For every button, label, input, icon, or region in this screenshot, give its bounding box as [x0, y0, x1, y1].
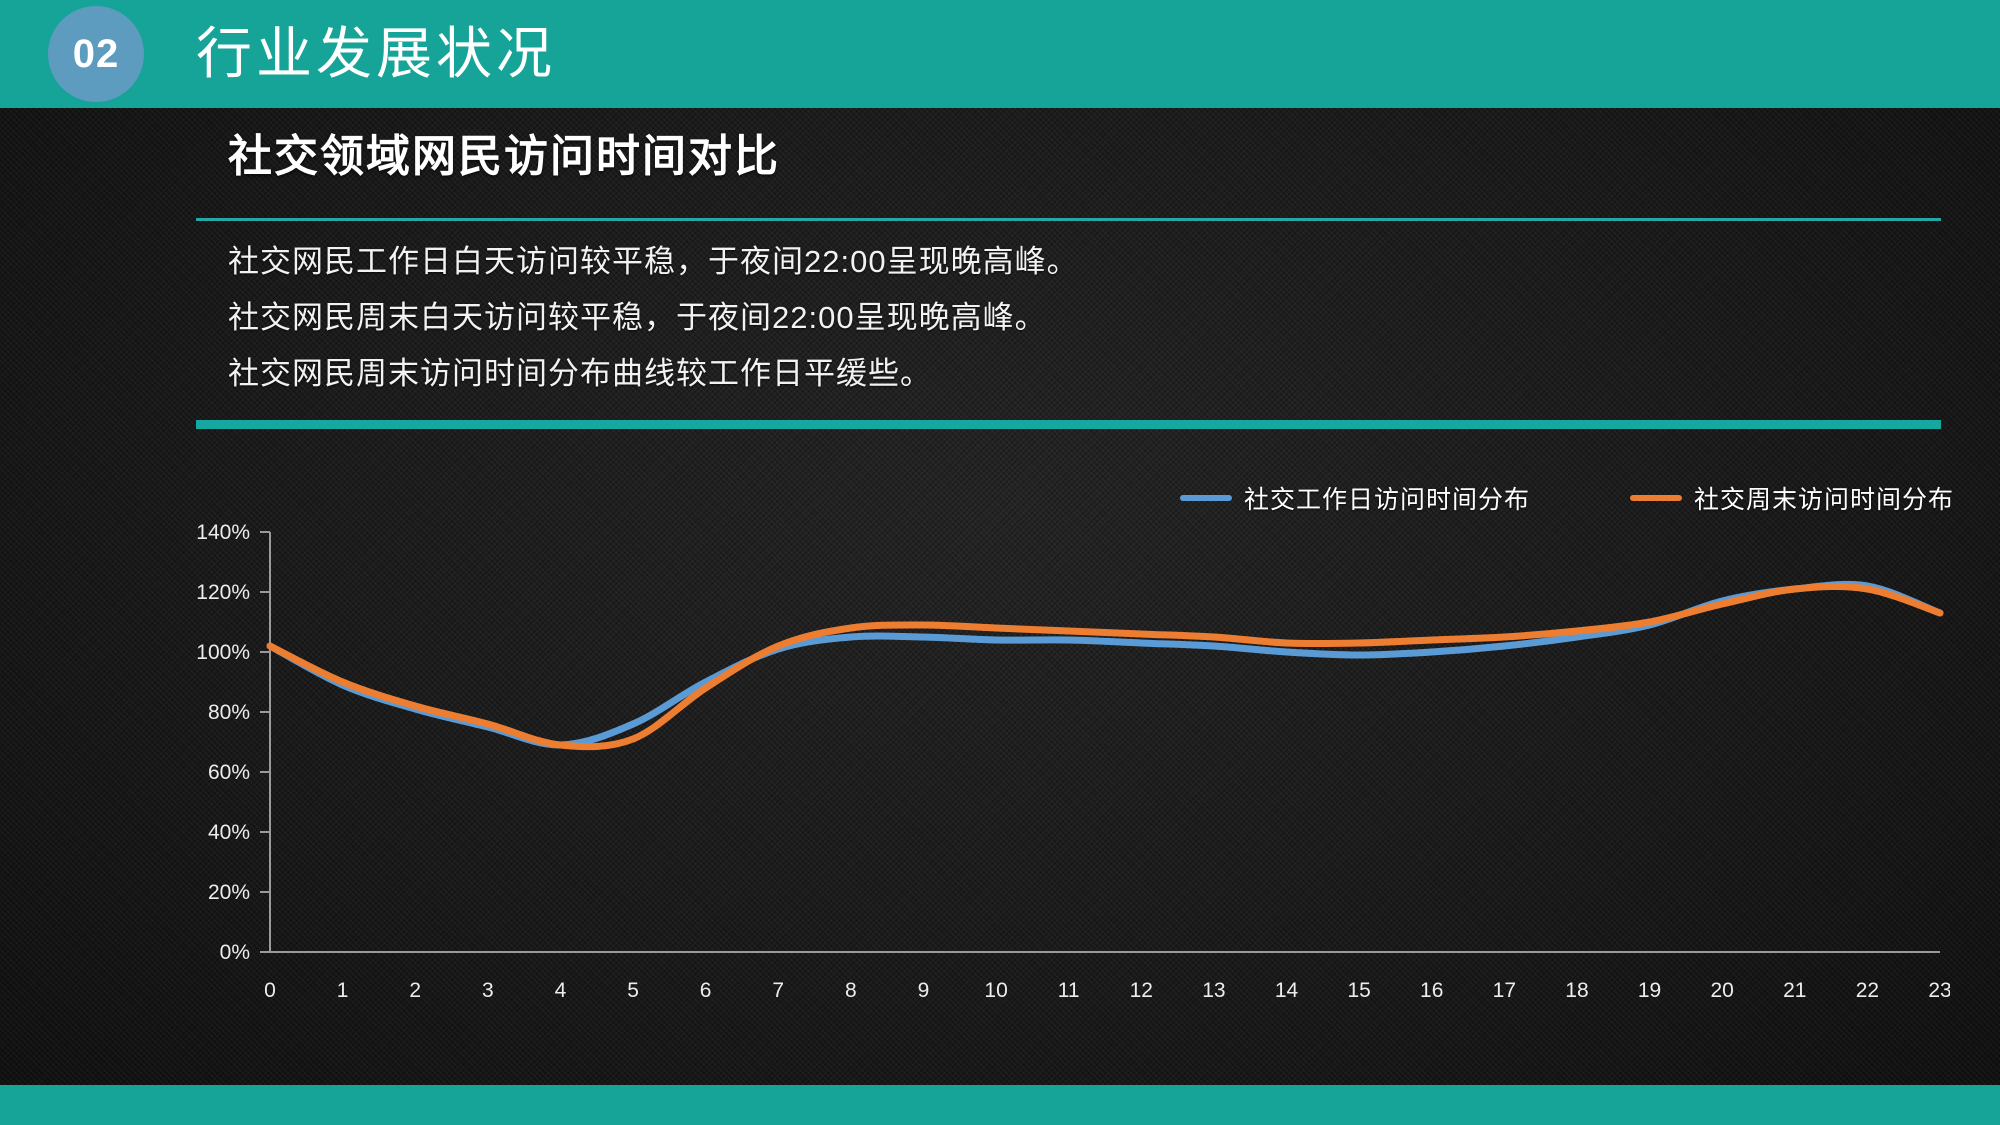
svg-text:7: 7 [772, 979, 784, 1002]
svg-text:20%: 20% [208, 881, 250, 904]
bullet-item: 社交网民周末白天访问较平稳，于夜间22:00呈现晚高峰。 [228, 299, 1928, 337]
svg-text:20: 20 [1710, 979, 1733, 1002]
svg-text:23: 23 [1928, 979, 1950, 1002]
page-title: 社交领域网民访问时间对比 [228, 120, 780, 184]
svg-text:16: 16 [1420, 979, 1443, 1002]
section-number-badge: 02 [48, 6, 144, 102]
svg-text:18: 18 [1565, 979, 1588, 1002]
svg-text:8: 8 [845, 979, 857, 1002]
svg-text:1: 1 [337, 979, 349, 1002]
svg-text:100%: 100% [196, 641, 250, 664]
bullet-item: 社交网民工作日白天访问较平稳，于夜间22:00呈现晚高峰。 [228, 243, 1928, 281]
legend-item-weekday: 社交工作日访问时间分布 [1180, 480, 1530, 516]
legend-item-weekend: 社交周末访问时间分布 [1630, 480, 1954, 516]
svg-text:6: 6 [700, 979, 712, 1002]
svg-text:22: 22 [1856, 979, 1879, 1002]
svg-text:0: 0 [264, 979, 276, 1002]
bullet-item: 社交网民周末访问时间分布曲线较工作日平缓些。 [228, 355, 1928, 393]
svg-text:60%: 60% [208, 761, 250, 784]
chart-legend: 社交工作日访问时间分布 社交周末访问时间分布 [1180, 480, 1954, 516]
divider-thick [196, 420, 1941, 429]
svg-text:11: 11 [1058, 979, 1080, 1002]
legend-label: 社交周末访问时间分布 [1694, 480, 1954, 516]
svg-text:3: 3 [482, 979, 494, 1002]
svg-text:10: 10 [984, 979, 1007, 1002]
svg-text:120%: 120% [196, 581, 250, 604]
svg-text:40%: 40% [208, 821, 250, 844]
svg-text:4: 4 [555, 979, 567, 1002]
svg-text:2: 2 [409, 979, 421, 1002]
chart: 社交工作日访问时间分布 社交周末访问时间分布 0%20%40%60%80%100… [150, 480, 1950, 1060]
slide: 02 行业发展状况 社交领域网民访问时间对比 社交网民工作日白天访问较平稳，于夜… [0, 0, 2000, 1125]
svg-text:19: 19 [1638, 979, 1661, 1002]
section-number-text: 02 [73, 34, 120, 74]
footer-band [0, 1085, 2000, 1125]
line-chart-svg: 0%20%40%60%80%100%120%140%01234567891011… [150, 520, 1950, 1060]
legend-swatch-icon [1630, 495, 1682, 501]
legend-label: 社交工作日访问时间分布 [1244, 480, 1530, 516]
series-line [270, 584, 1940, 745]
chart-plot-area: 0%20%40%60%80%100%120%140%01234567891011… [150, 520, 1950, 1060]
svg-text:15: 15 [1347, 979, 1370, 1002]
legend-swatch-icon [1180, 495, 1232, 501]
svg-text:13: 13 [1202, 979, 1225, 1002]
svg-text:21: 21 [1783, 979, 1806, 1002]
svg-text:9: 9 [918, 979, 930, 1002]
svg-text:80%: 80% [208, 701, 250, 724]
bullet-list: 社交网民工作日白天访问较平稳，于夜间22:00呈现晚高峰。 社交网民周末白天访问… [228, 243, 1928, 411]
svg-text:5: 5 [627, 979, 639, 1002]
svg-text:14: 14 [1275, 979, 1299, 1002]
series-line [270, 587, 1940, 747]
section-title: 行业发展状况 [196, 12, 556, 96]
svg-text:12: 12 [1130, 979, 1153, 1002]
divider-thin [196, 218, 1941, 221]
svg-text:17: 17 [1493, 979, 1516, 1002]
svg-text:0%: 0% [220, 941, 250, 964]
svg-text:140%: 140% [196, 521, 250, 544]
header-band: 02 行业发展状况 [0, 0, 2000, 108]
